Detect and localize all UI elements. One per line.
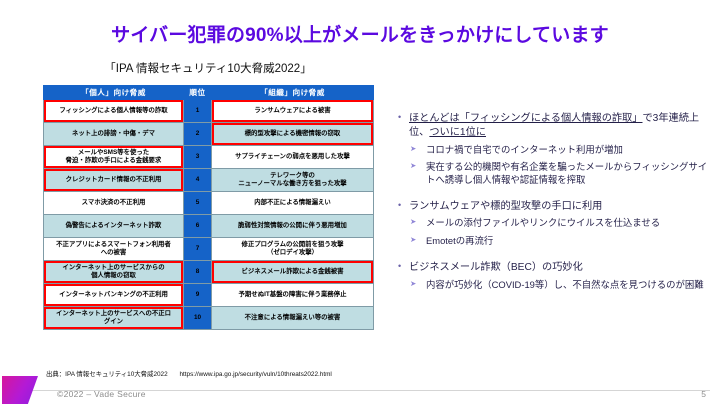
cell-rank: 1: [184, 100, 212, 123]
cell-person-threat: スマホ決済の不正利用: [44, 192, 184, 215]
cell-rank: 2: [184, 123, 212, 146]
bullet-primary: ほとんどは「フィッシングによる個人情報の詐取」で3年連続上位、ついに1位に: [396, 112, 708, 140]
bullet-primary: ランサムウェアや標的型攻撃の手口に利用: [396, 200, 708, 214]
threats-table: 「個人」向け脅威 順位 「組織」向け脅威 フィッシングによる個人情報等の詐取1ラ…: [43, 85, 374, 330]
bullet-group: ランサムウェアや標的型攻撃の手口に利用メールの添付ファイルやリンクにウイルスを仕…: [396, 200, 708, 248]
cell-rank: 5: [184, 192, 212, 215]
table-header-row: 「個人」向け脅威 順位 「組織」向け脅威: [44, 86, 374, 100]
bullet-group: ビジネスメール詐欺（BEC）の巧妙化内容が巧妙化（COVID-19等）し、不自然…: [396, 261, 708, 291]
table-row: フィッシングによる個人情報等の詐取1ランサムウェアによる被害: [44, 100, 374, 123]
source-label: 出典：IPA 情報セキュリティ10大脅威2022: [46, 371, 168, 378]
cell-rank: 3: [184, 146, 212, 169]
cell-rank: 6: [184, 215, 212, 238]
cell-org-threat: 修正プログラムの公開前を狙う攻撃（ゼロデイ攻撃）: [212, 238, 374, 261]
cell-rank: 7: [184, 238, 212, 261]
table-row: インターネット上のサービスへの不正ログイン10不注意による情報漏えい等の被害: [44, 307, 374, 330]
cell-person-threat: インターネットバンキングの不正利用: [44, 284, 184, 307]
table-row: クレジットカード情報の不正利用4テレワーク等のニューノーマルな働き方を狙った攻撃: [44, 169, 374, 192]
cell-org-threat: テレワーク等のニューノーマルな働き方を狙った攻撃: [212, 169, 374, 192]
cell-org-threat: ランサムウェアによる被害: [212, 100, 374, 123]
vade-secure-logo: [2, 376, 38, 404]
cell-rank: 4: [184, 169, 212, 192]
cell-rank: 8: [184, 261, 212, 284]
threats-table-body: フィッシングによる個人情報等の詐取1ランサムウェアによる被害ネット上の誹謗・中傷…: [44, 100, 374, 330]
cell-org-threat: 不注意による情報漏えい等の被害: [212, 307, 374, 330]
header-rank: 順位: [184, 86, 212, 100]
table-row: 偽警告によるインターネット詐欺6脆弱性対策情報の公開に伴う悪用増加: [44, 215, 374, 238]
slide-root: サイバー犯罪の90%以上がメールをきっかけにしています 「IPA 情報セキュリテ…: [0, 0, 720, 405]
cell-rank: 9: [184, 284, 212, 307]
bullet-secondary: コロナ禍で自宅でのインターネット利用が増加: [396, 144, 708, 157]
source-url: https://www.ipa.go.jp/security/vuln/10th…: [179, 371, 331, 378]
bullet-secondary: 実在する公的機関や有名企業を騙ったメールからフィッシングサイトへ誘導し個人情報や…: [396, 161, 708, 186]
table-caption: 「IPA 情報セキュリティ10大脅威2022」: [43, 60, 373, 76]
cell-person-threat: ネット上の誹謗・中傷・デマ: [44, 123, 184, 146]
cell-person-threat: メールやSMS等を使った脅迫・詐欺の手口による金銭要求: [44, 146, 184, 169]
table-row: インターネット上のサービスからの個人情報の窃取8ビジネスメール詐欺による金銭被害: [44, 261, 374, 284]
cell-person-threat: 不正アプリによるスマートフォン利用者への被害: [44, 238, 184, 261]
cell-org-threat: ビジネスメール詐欺による金銭被害: [212, 261, 374, 284]
table-row: スマホ決済の不正利用5内部不正による情報漏えい: [44, 192, 374, 215]
cell-org-threat: 標的型攻撃による機密情報の窃取: [212, 123, 374, 146]
page-number: 5: [701, 389, 706, 399]
table-row: インターネットバンキングの不正利用9予期せぬIT基盤の障害に伴う業務停止: [44, 284, 374, 307]
cell-person-threat: 偽警告によるインターネット詐欺: [44, 215, 184, 238]
cell-person-threat: クレジットカード情報の不正利用: [44, 169, 184, 192]
bullet-list: ほとんどは「フィッシングによる個人情報の詐取」で3年連続上位、ついに1位にコロナ…: [396, 112, 708, 304]
table-row: 不正アプリによるスマートフォン利用者への被害7修正プログラムの公開前を狙う攻撃（…: [44, 238, 374, 261]
bullet-secondary: 内容が巧妙化（COVID-19等）し、不自然な点を見つけるのが困難: [396, 279, 708, 292]
cell-org-threat: サプライチェーンの弱点を悪用した攻撃: [212, 146, 374, 169]
header-org: 「組織」向け脅威: [212, 86, 374, 100]
table-row: メールやSMS等を使った脅迫・詐欺の手口による金銭要求3サプライチェーンの弱点を…: [44, 146, 374, 169]
bullet-secondary: Emotetの再流行: [396, 235, 708, 248]
bullet-primary: ビジネスメール詐欺（BEC）の巧妙化: [396, 261, 708, 275]
page-title: サイバー犯罪の90%以上がメールをきっかけにしています: [0, 20, 720, 47]
footer-copyright: ©2022 – Vade Secure: [57, 389, 146, 399]
cell-person-threat: インターネット上のサービスへの不正ログイン: [44, 307, 184, 330]
source-note: 出典：IPA 情報セキュリティ10大脅威2022 https://www.ipa…: [46, 369, 686, 378]
bullet-group: ほとんどは「フィッシングによる個人情報の詐取」で3年連続上位、ついに1位にコロナ…: [396, 112, 708, 187]
header-person: 「個人」向け脅威: [44, 86, 184, 100]
cell-org-threat: 内部不正による情報漏えい: [212, 192, 374, 215]
cell-rank: 10: [184, 307, 212, 330]
cell-org-threat: 脆弱性対策情報の公開に伴う悪用増加: [212, 215, 374, 238]
bullet-secondary: メールの添付ファイルやリンクにウイルスを仕込ませる: [396, 217, 708, 230]
cell-person-threat: フィッシングによる個人情報等の詐取: [44, 100, 184, 123]
cell-person-threat: インターネット上のサービスからの個人情報の窃取: [44, 261, 184, 284]
cell-org-threat: 予期せぬIT基盤の障害に伴う業務停止: [212, 284, 374, 307]
table-row: ネット上の誹謗・中傷・デマ2標的型攻撃による機密情報の窃取: [44, 123, 374, 146]
threats-table-wrap: 「個人」向け脅威 順位 「組織」向け脅威 フィッシングによる個人情報等の詐取1ラ…: [43, 85, 373, 330]
